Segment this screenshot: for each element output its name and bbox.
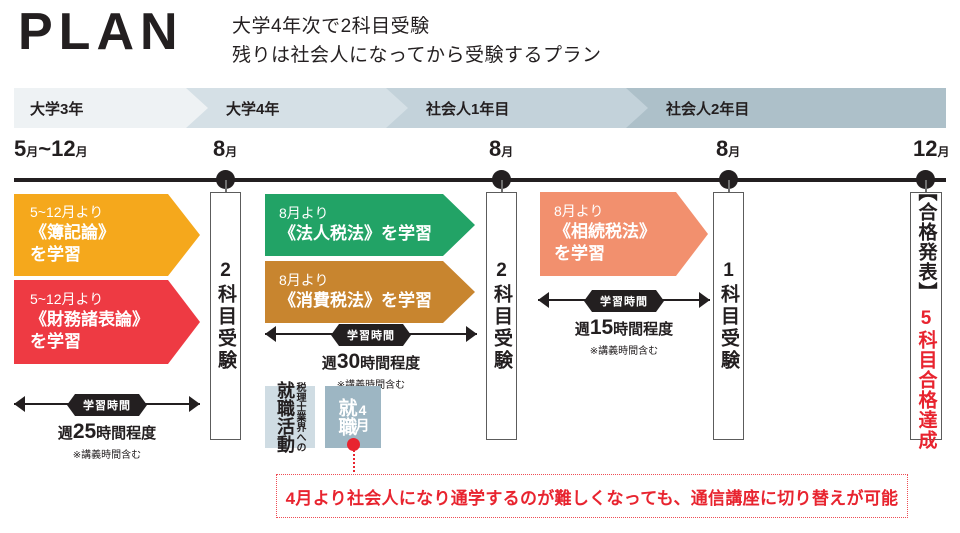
meter-badge-2: 学習時間: [584, 290, 664, 312]
meter-arrow-left-0: [14, 396, 25, 412]
task-period-2: 8月より: [279, 205, 475, 223]
meter-arrow-left-1: [265, 326, 276, 342]
meter-badge-1: 学習時間: [331, 324, 411, 346]
job-box-sub-1: 4月: [356, 402, 370, 432]
exam-box-2: 1科目受験: [713, 192, 744, 440]
task-verb-0: を学習: [30, 244, 200, 266]
meter-arrow-right-2: [699, 292, 710, 308]
task-period-4: 8月より: [554, 203, 708, 221]
phase-segment-3: 社会人2年目: [626, 88, 946, 128]
phase-segment-1: 大学4年: [186, 88, 426, 128]
phase-label-2: 社会人1年目: [426, 98, 509, 119]
phase-band: 大学3年 大学4年 社会人1年目 社会人2年目: [14, 88, 946, 128]
study-time-meter-2: 学習時間 週15時間程度 ※講義時間含む: [538, 288, 710, 358]
task-arrow-boki: 5~12月より 《簿記論》 を学習: [14, 194, 200, 276]
task-subject-4: 《相続税法》: [554, 221, 708, 243]
callout-box: 4月より社会人になり通学するのが難しくなっても、通信講座に切り替えが可能: [276, 474, 908, 518]
tick-label-0: 5月~12月: [14, 136, 88, 162]
phase-label-1: 大学4年: [226, 98, 279, 119]
meter-badge-0: 学習時間: [67, 394, 147, 416]
plan-infographic: PLAN 大学4年次で2科目受験 残りは社会人になってから受験するプラン 大学3…: [0, 0, 960, 533]
meter-note-2: ※講義時間含む: [538, 342, 710, 357]
meter-amount-0: 週25時間程度: [14, 420, 200, 444]
job-box-sub-0: 税理士業界への: [294, 382, 304, 452]
meter-amount-1: 週30時間程度: [265, 350, 477, 374]
exam-box-label-1: 2科目受験: [492, 260, 511, 372]
study-time-meter-0: 学習時間 週25時間程度 ※講義時間含む: [14, 392, 200, 462]
subtitle-line-2: 残りは社会人になってから受験するプラン: [232, 41, 602, 70]
meter-amount-2: 週15時間程度: [538, 316, 710, 340]
result-box-line-2: 5科目合格達成: [917, 308, 936, 450]
meter-arrow-left-2: [538, 292, 549, 308]
meter-arrow-right-0: [189, 396, 200, 412]
page-subtitle: 大学4年次で2科目受験 残りは社会人になってから受験するプラン: [232, 12, 602, 71]
task-subject-2: 《法人税法》を学習: [279, 223, 475, 245]
tick-label-4: 12月: [913, 136, 950, 162]
exam-box-label-2: 1科目受験: [719, 260, 738, 372]
subtitle-line-1: 大学4年次で2科目受験: [232, 12, 602, 41]
task-period-1: 5~12月より: [30, 291, 200, 309]
task-arrow-sozoku: 8月より 《相続税法》 を学習: [540, 192, 708, 276]
page-title: PLAN: [18, 6, 184, 58]
tick-label-2: 8月: [489, 136, 513, 162]
job-box-main-1: 就職: [337, 398, 356, 436]
timeline-axis: [14, 178, 946, 182]
phase-segment-2: 社会人1年目: [386, 88, 666, 128]
tick-label-1: 8月: [213, 136, 237, 162]
phase-label-0: 大学3年: [30, 98, 83, 119]
result-box: 【合格発表】 5科目合格達成: [910, 192, 942, 440]
task-period-3: 8月より: [279, 272, 475, 290]
task-verb-1: を学習: [30, 331, 200, 353]
exam-box-0: 2科目受験: [210, 192, 241, 440]
task-arrow-shohi: 8月より 《消費税法》を学習: [265, 261, 475, 323]
task-arrow-zaimu: 5~12月より 《財務諸表論》 を学習: [14, 280, 200, 364]
task-verb-4: を学習: [554, 243, 708, 265]
meter-arrow-right-1: [466, 326, 477, 342]
callout-stem: [353, 450, 355, 476]
meter-note-0: ※講義時間含む: [14, 446, 200, 461]
phase-label-3: 社会人2年目: [666, 98, 749, 119]
task-subject-3: 《消費税法》を学習: [279, 290, 475, 312]
job-box-katsudo: 就職活動 税理士業界への: [265, 386, 315, 448]
task-arrow-hojin: 8月より 《法人税法》を学習: [265, 194, 475, 256]
exam-box-1: 2科目受験: [486, 192, 517, 440]
result-box-line-1: 【合格発表】: [917, 182, 936, 302]
callout-text: 4月より社会人になり通学するのが難しくなっても、通信講座に切り替えが可能: [286, 484, 899, 509]
tick-label-3: 8月: [716, 136, 740, 162]
task-subject-1: 《財務諸表論》: [30, 309, 200, 331]
exam-box-label-0: 2科目受験: [216, 260, 235, 372]
task-period-0: 5~12月より: [30, 204, 200, 222]
job-box-main-0: 就職活動: [276, 381, 294, 453]
task-subject-0: 《簿記論》: [30, 222, 200, 244]
